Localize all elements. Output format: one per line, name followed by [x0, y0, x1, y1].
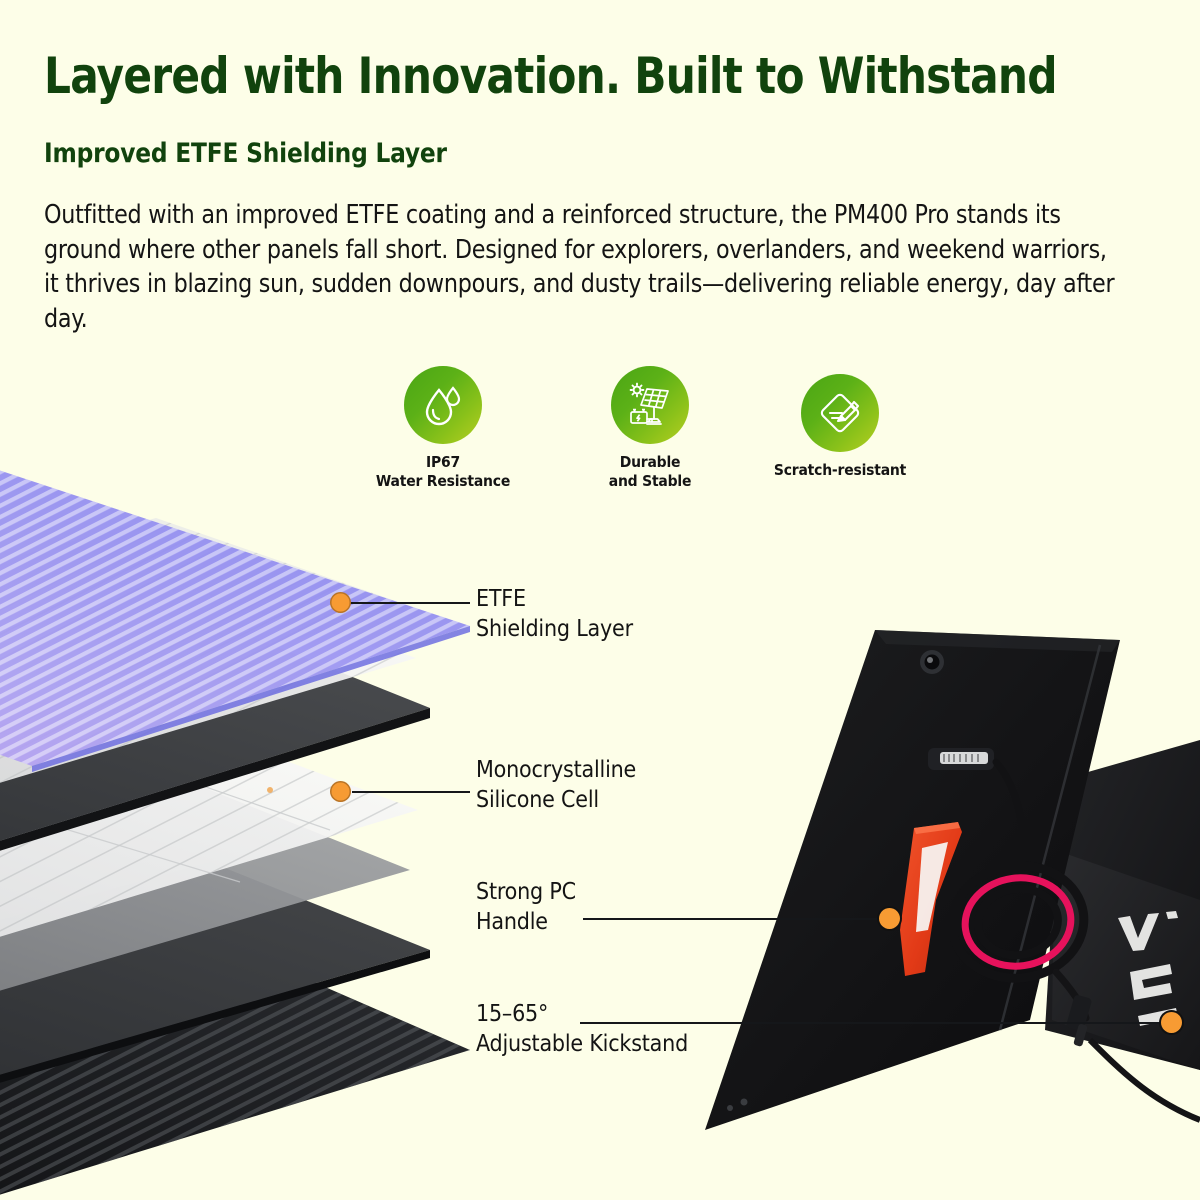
scratch-resistant-icon: [816, 389, 864, 437]
exploded-layer-stack: [0, 430, 530, 1200]
callout-label-kickstand: 15–65° Adjustable Kickstand: [476, 1000, 688, 1060]
callout-dot-handle: [879, 908, 900, 929]
callout-leader-line-etfe: [348, 602, 470, 604]
badge-label: IP67 Water Resistance: [348, 453, 538, 491]
feature-badge-group: IP67 Water Resistance: [300, 366, 920, 516]
infographic-canvas: Layered with Innovation. Built to Withst…: [0, 0, 1200, 1200]
callout-leader-line-handle: [583, 918, 885, 920]
solar-panel-icon: [626, 381, 674, 429]
section-subtitle: Improved ETFE Shielding Layer: [44, 138, 908, 169]
callout-dot-kickstand: [1161, 1012, 1182, 1033]
callout-label-cell: Monocrystalline Silicone Cell: [476, 756, 636, 816]
page-title: Layered with Innovation. Built to Withst…: [44, 48, 1087, 104]
callout-dot-etfe: [330, 592, 351, 613]
feature-badge-ip67: IP67 Water Resistance: [348, 366, 538, 491]
grommet-eyelet: [920, 650, 944, 674]
callout-label-etfe: ETFE Shielding Layer: [476, 585, 633, 645]
badge-circle: [611, 366, 689, 444]
callout-label-handle: Strong PC Handle: [476, 878, 576, 938]
water-drop-icon: [420, 382, 466, 428]
feature-badge-scratch: Scratch-resistant: [725, 374, 955, 480]
callout-leader-line-cell: [352, 791, 470, 793]
callout-dot-cell: [330, 781, 351, 802]
badge-circle: [801, 374, 879, 452]
badge-label: Scratch-resistant: [725, 461, 955, 480]
folded-solar-panel-photo: [700, 600, 1200, 1200]
body-paragraph: Outfitted with an improved ETFE coating …: [44, 198, 1121, 337]
junction-box: [928, 748, 994, 770]
badge-circle: [404, 366, 482, 444]
feature-badge-durable: Durable and Stable: [555, 366, 745, 491]
badge-label: Durable and Stable: [555, 453, 745, 491]
